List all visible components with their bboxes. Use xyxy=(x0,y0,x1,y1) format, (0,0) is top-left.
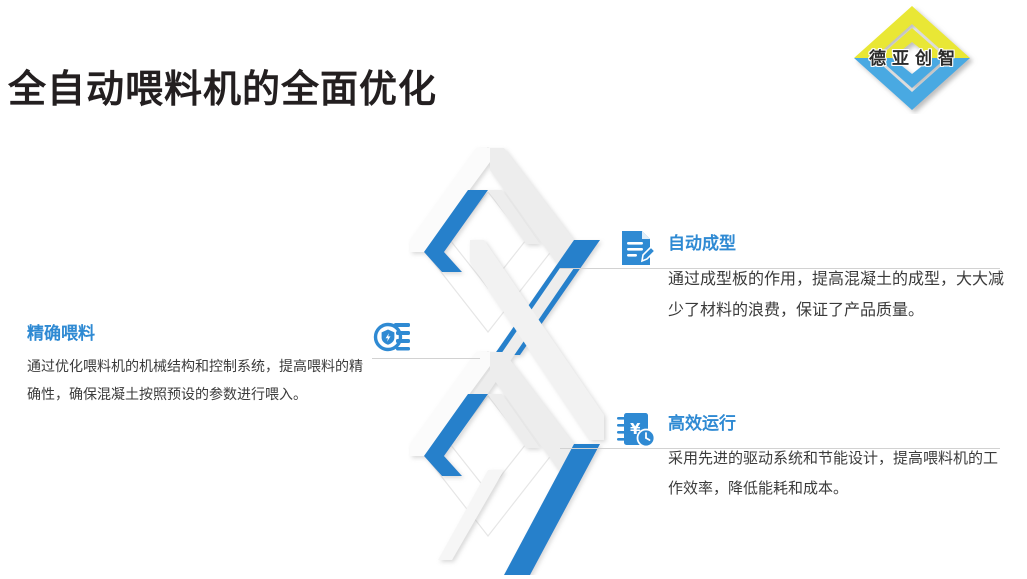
feature-automatic-forming: 自动成型 通过成型板的作用，提高混凝土的成型，大大减少了材料的浪费，保证了产品质… xyxy=(668,232,1006,325)
connector-line-left xyxy=(372,358,480,359)
ledger-yen-clock-icon: ¥ xyxy=(616,411,656,449)
feature-efficient-operation: 高效运行 采用先进的驱动系统和节能设计，提高喂料机的工作效率，降低能耗和成本。 xyxy=(668,412,1006,503)
feature-title: 高效运行 xyxy=(668,412,1006,436)
ledger-yen-clock-glyph: ¥ xyxy=(616,411,656,449)
feature-precise-feeding: 精确喂料 通过优化喂料机的机械结构和控制系统，提高喂料的精确性，确保混凝土按照预… xyxy=(27,322,372,409)
feature-body: 通过成型板的作用，提高混凝土的成型，大大减少了材料的浪费，保证了产品质量。 xyxy=(668,263,1006,325)
page-title: 全自动喂料机的全面优化 xyxy=(8,62,437,116)
feature-title: 自动成型 xyxy=(668,232,1006,256)
feature-body: 采用先进的驱动系统和节能设计，提高喂料机的工作效率，降低能耗和成本。 xyxy=(668,443,1006,503)
document-pencil-glyph xyxy=(618,229,656,269)
shield-bolt-data-icon xyxy=(372,317,414,355)
feature-title: 精确喂料 xyxy=(27,322,372,346)
shield-bolt-data-glyph xyxy=(372,317,414,355)
logo-text: 德亚创智 xyxy=(846,44,978,69)
brand-logo: 德亚创智 xyxy=(846,2,978,114)
document-pencil-icon xyxy=(618,229,656,269)
feature-body: 通过优化喂料机的机械结构和控制系统，提高喂料的精确性，确保混凝土按照预设的参数进… xyxy=(27,353,372,409)
